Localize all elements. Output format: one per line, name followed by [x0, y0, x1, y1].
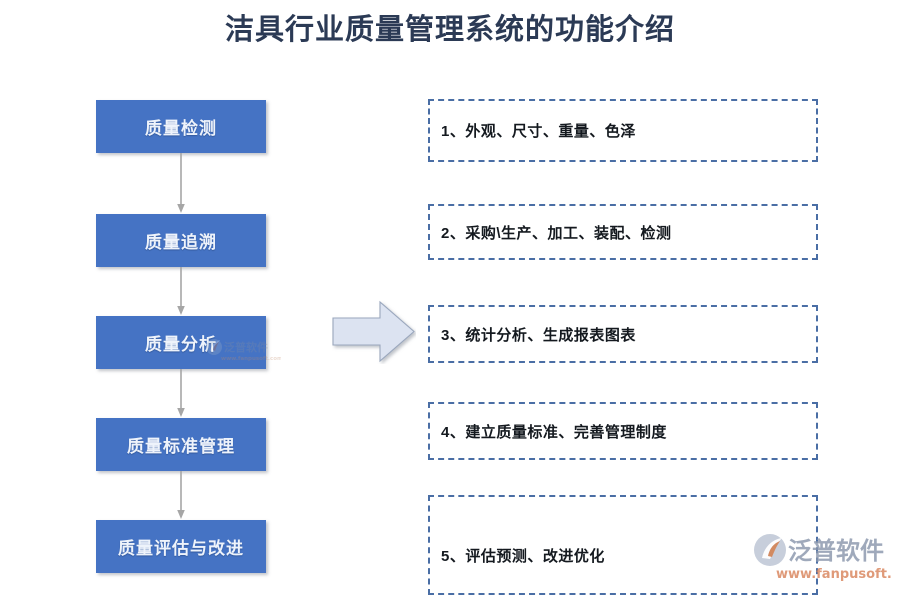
- detail-box-5-text: 5、评估预测、改进优化: [441, 545, 605, 566]
- detail-box-5[interactable]: 5、评估预测、改进优化: [428, 495, 818, 595]
- detail-box-3[interactable]: 3、统计分析、生成报表图表: [428, 305, 818, 363]
- flow-step-4-label: 质量标准管理: [127, 432, 235, 457]
- diagram-canvas: 洁具行业质量管理系统的功能介绍 质量检测 质量追溯 质量分析 质量标准管理: [0, 0, 900, 600]
- detail-box-2[interactable]: 2、采购\生产、加工、装配、检测: [428, 204, 818, 260]
- flow-connector-3-4: [175, 369, 187, 418]
- flow-connector-2-3: [175, 267, 187, 316]
- big-right-arrow-icon: [332, 300, 416, 364]
- flow-connector-1-2: [175, 153, 187, 214]
- detail-box-4-text: 4、建立质量标准、完善管理制度: [441, 421, 667, 442]
- flow-step-1-label: 质量检测: [145, 114, 217, 139]
- flow-step-2[interactable]: 质量追溯: [96, 214, 266, 267]
- detail-box-3-text: 3、统计分析、生成报表图表: [441, 324, 636, 345]
- detail-box-1-text: 1、外观、尺寸、重量、色泽: [441, 120, 636, 141]
- flow-step-2-label: 质量追溯: [145, 228, 217, 253]
- flow-step-1[interactable]: 质量检测: [96, 100, 266, 153]
- page-title: 洁具行业质量管理系统的功能介绍: [0, 10, 900, 50]
- flow-connector-4-5: [175, 471, 187, 520]
- flow-step-3[interactable]: 质量分析: [96, 316, 266, 369]
- flow-step-4[interactable]: 质量标准管理: [96, 418, 266, 471]
- flow-step-5-label: 质量评估与改进: [118, 534, 244, 559]
- flow-step-5[interactable]: 质量评估与改进: [96, 520, 266, 573]
- detail-box-4[interactable]: 4、建立质量标准、完善管理制度: [428, 402, 818, 460]
- flow-step-3-label: 质量分析: [145, 330, 217, 355]
- detail-box-2-text: 2、采购\生产、加工、装配、检测: [441, 222, 672, 243]
- detail-box-1[interactable]: 1、外观、尺寸、重量、色泽: [428, 99, 818, 162]
